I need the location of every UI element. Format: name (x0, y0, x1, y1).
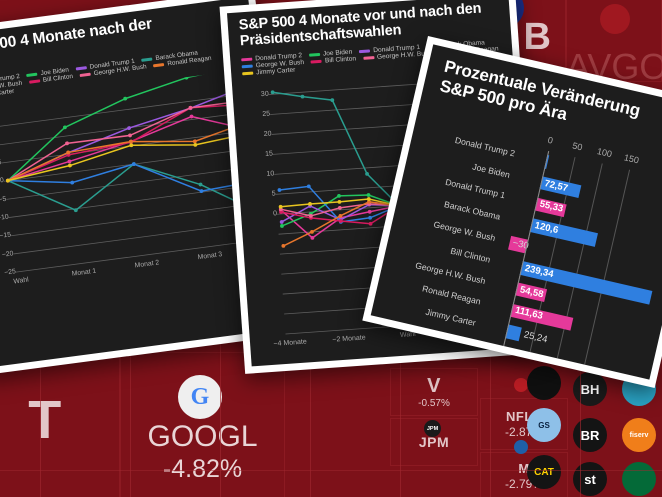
heatmap-logo-icon: CAT (527, 455, 561, 489)
data-point (68, 163, 72, 167)
y-axis-tick: 15 (255, 150, 273, 158)
heatmap-ticker: GOOGL (120, 420, 285, 454)
heatmap-ticker: JPM (419, 435, 449, 449)
chart3-plot-area: Prozentuale Veränderung S&P 500 pro Ära … (371, 44, 662, 379)
heatmap-logo-icon: JPM (424, 420, 441, 437)
legend-swatch-icon (80, 73, 91, 77)
data-point (184, 76, 188, 80)
data-point (271, 90, 275, 94)
legend-swatch-icon (242, 72, 253, 76)
y-axis-tick: 5 (258, 190, 276, 198)
legend-swatch-icon (76, 66, 87, 70)
data-point (368, 210, 372, 214)
heatmap-logo-icon (527, 366, 561, 400)
bar-value-label: 120,6 (534, 220, 560, 236)
legend-label: Jimmy Carter (0, 88, 15, 100)
heatmap-ticker: T (28, 393, 62, 447)
y-axis-tick: 0 (259, 210, 277, 218)
legend-swatch-icon (27, 73, 38, 77)
legend-label: Bill Clinton (325, 55, 357, 64)
heatmap-gridline (0, 470, 662, 471)
series-line (8, 148, 264, 216)
bar-value-label: 25,24 (523, 329, 549, 345)
y-axis-tick: 25 (252, 111, 270, 119)
data-point (337, 200, 341, 204)
heatmap-logo-icon: fiserv (622, 418, 656, 452)
legend-swatch-icon (242, 65, 253, 69)
heatmap-logo-icon (514, 378, 528, 392)
legend-swatch-icon (309, 53, 320, 57)
gridline (11, 202, 267, 236)
y-axis-tick: 10 (256, 170, 274, 178)
data-point (193, 139, 197, 143)
gridline (6, 166, 262, 200)
data-point (193, 143, 197, 147)
heatmap-change: -0.57% (418, 399, 450, 409)
bar-value-label: 54,58 (519, 284, 545, 300)
data-point (366, 193, 370, 197)
data-point (189, 114, 193, 118)
legend-swatch-icon (241, 58, 252, 62)
y-axis-tick: 30 (251, 91, 269, 99)
legend-label: Jimmy Carter (256, 67, 296, 77)
legend-swatch-icon (363, 56, 374, 60)
data-point (67, 159, 71, 163)
gridline (9, 184, 265, 218)
legend-swatch-icon (359, 49, 370, 53)
heatmap-gridline (220, 330, 221, 497)
bar-value-label: 72,57 (543, 178, 569, 194)
heatmap-tile: V-0.57% (390, 368, 478, 416)
legend-swatch-icon (311, 60, 322, 64)
legend-swatch-icon (29, 79, 40, 83)
google-icon: G (187, 384, 213, 410)
heatmap-ticker: V (427, 376, 441, 396)
heatmap-logo-icon: st (573, 462, 607, 496)
bar-value-label: 55,33 (538, 199, 564, 215)
heatmap-logo-icon: GS (527, 408, 561, 442)
heatmap-logo-icon: BR (573, 418, 607, 452)
data-point (277, 188, 281, 192)
legend-swatch-icon (142, 57, 153, 61)
y-axis-tick: 20 (253, 130, 271, 138)
data-point (368, 216, 372, 220)
heatmap-logo-icon: BH (573, 372, 607, 406)
gridline (584, 170, 630, 365)
x-axis-tick: 150 (615, 150, 648, 167)
data-point (300, 95, 304, 99)
data-point (70, 180, 74, 184)
heatmap-logo-icon (622, 462, 656, 496)
heatmap-logo-icon (600, 4, 630, 34)
legend-swatch-icon (153, 63, 164, 67)
heatmap-logo-icon (514, 440, 528, 454)
series-line (5, 129, 259, 181)
data-point (280, 224, 284, 228)
data-point (127, 126, 131, 130)
data-point (338, 206, 342, 210)
